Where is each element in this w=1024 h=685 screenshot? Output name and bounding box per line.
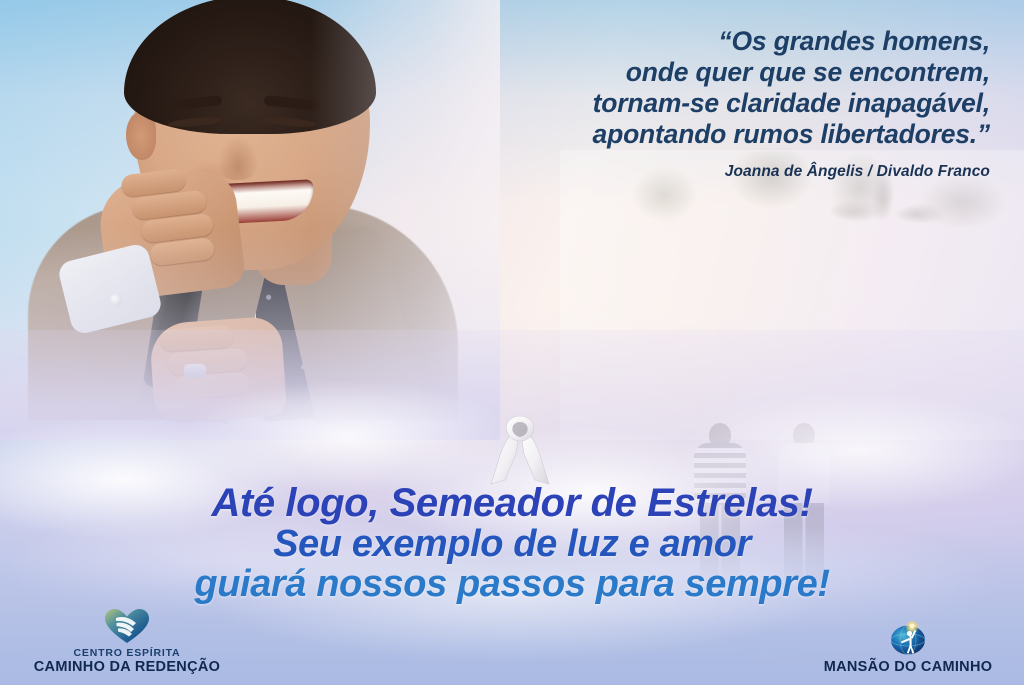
portrait-hair — [124, 0, 376, 134]
photo-ground — [560, 341, 1024, 440]
white-mourning-ribbon-icon — [489, 410, 551, 490]
portrait-cuff-button — [110, 294, 122, 306]
logo-mansao-do-caminho: MANSÃO DO CAMINHO — [798, 620, 1018, 675]
memorial-poster: “Os grandes homens, onde quer que se enc… — [0, 0, 1024, 685]
globe-figure-light-icon — [798, 620, 1018, 656]
logo-right-name: MANSÃO DO CAMINHO — [798, 659, 1018, 675]
background-photo — [560, 150, 1024, 440]
quote-line-1: “Os grandes homens, — [430, 26, 990, 57]
quote-line-2: onde quer que se encontrem, — [430, 57, 990, 88]
portrait-ring — [184, 364, 206, 378]
portrait-divaldo-franco — [6, 0, 476, 420]
headline-block: Até logo, Semeador de Estrelas! Seu exem… — [0, 482, 1024, 604]
photo-railing — [891, 266, 1011, 341]
quote-line-3: tornam-se claridade inapagável, — [430, 88, 990, 119]
portrait-nose — [218, 136, 258, 180]
quote-attribution: Joanna de Ângelis / Divaldo Franco — [430, 163, 990, 181]
logo-left-line-1: CENTRO ESPÍRITA — [12, 647, 242, 659]
photo-pole — [696, 159, 701, 321]
quote-block: “Os grandes homens, onde quer que se enc… — [430, 26, 990, 181]
logo-left-line-2: CAMINHO DA REDENÇÃO — [12, 659, 242, 675]
headline-line-1: Até logo, Semeador de Estrelas! — [0, 482, 1024, 524]
headline-line-3: guiará nossos passos para sempre! — [0, 564, 1024, 604]
portrait-hand-holding-microphone — [149, 316, 288, 425]
logo-centro-espirita: CENTRO ESPÍRITA CAMINHO DA REDENÇÃO — [12, 608, 242, 675]
headline-line-2: Seu exemplo de luz e amor — [0, 524, 1024, 564]
heart-hands-icon — [12, 608, 242, 644]
quote-line-4: apontando rumos libertadores.” — [430, 119, 990, 150]
